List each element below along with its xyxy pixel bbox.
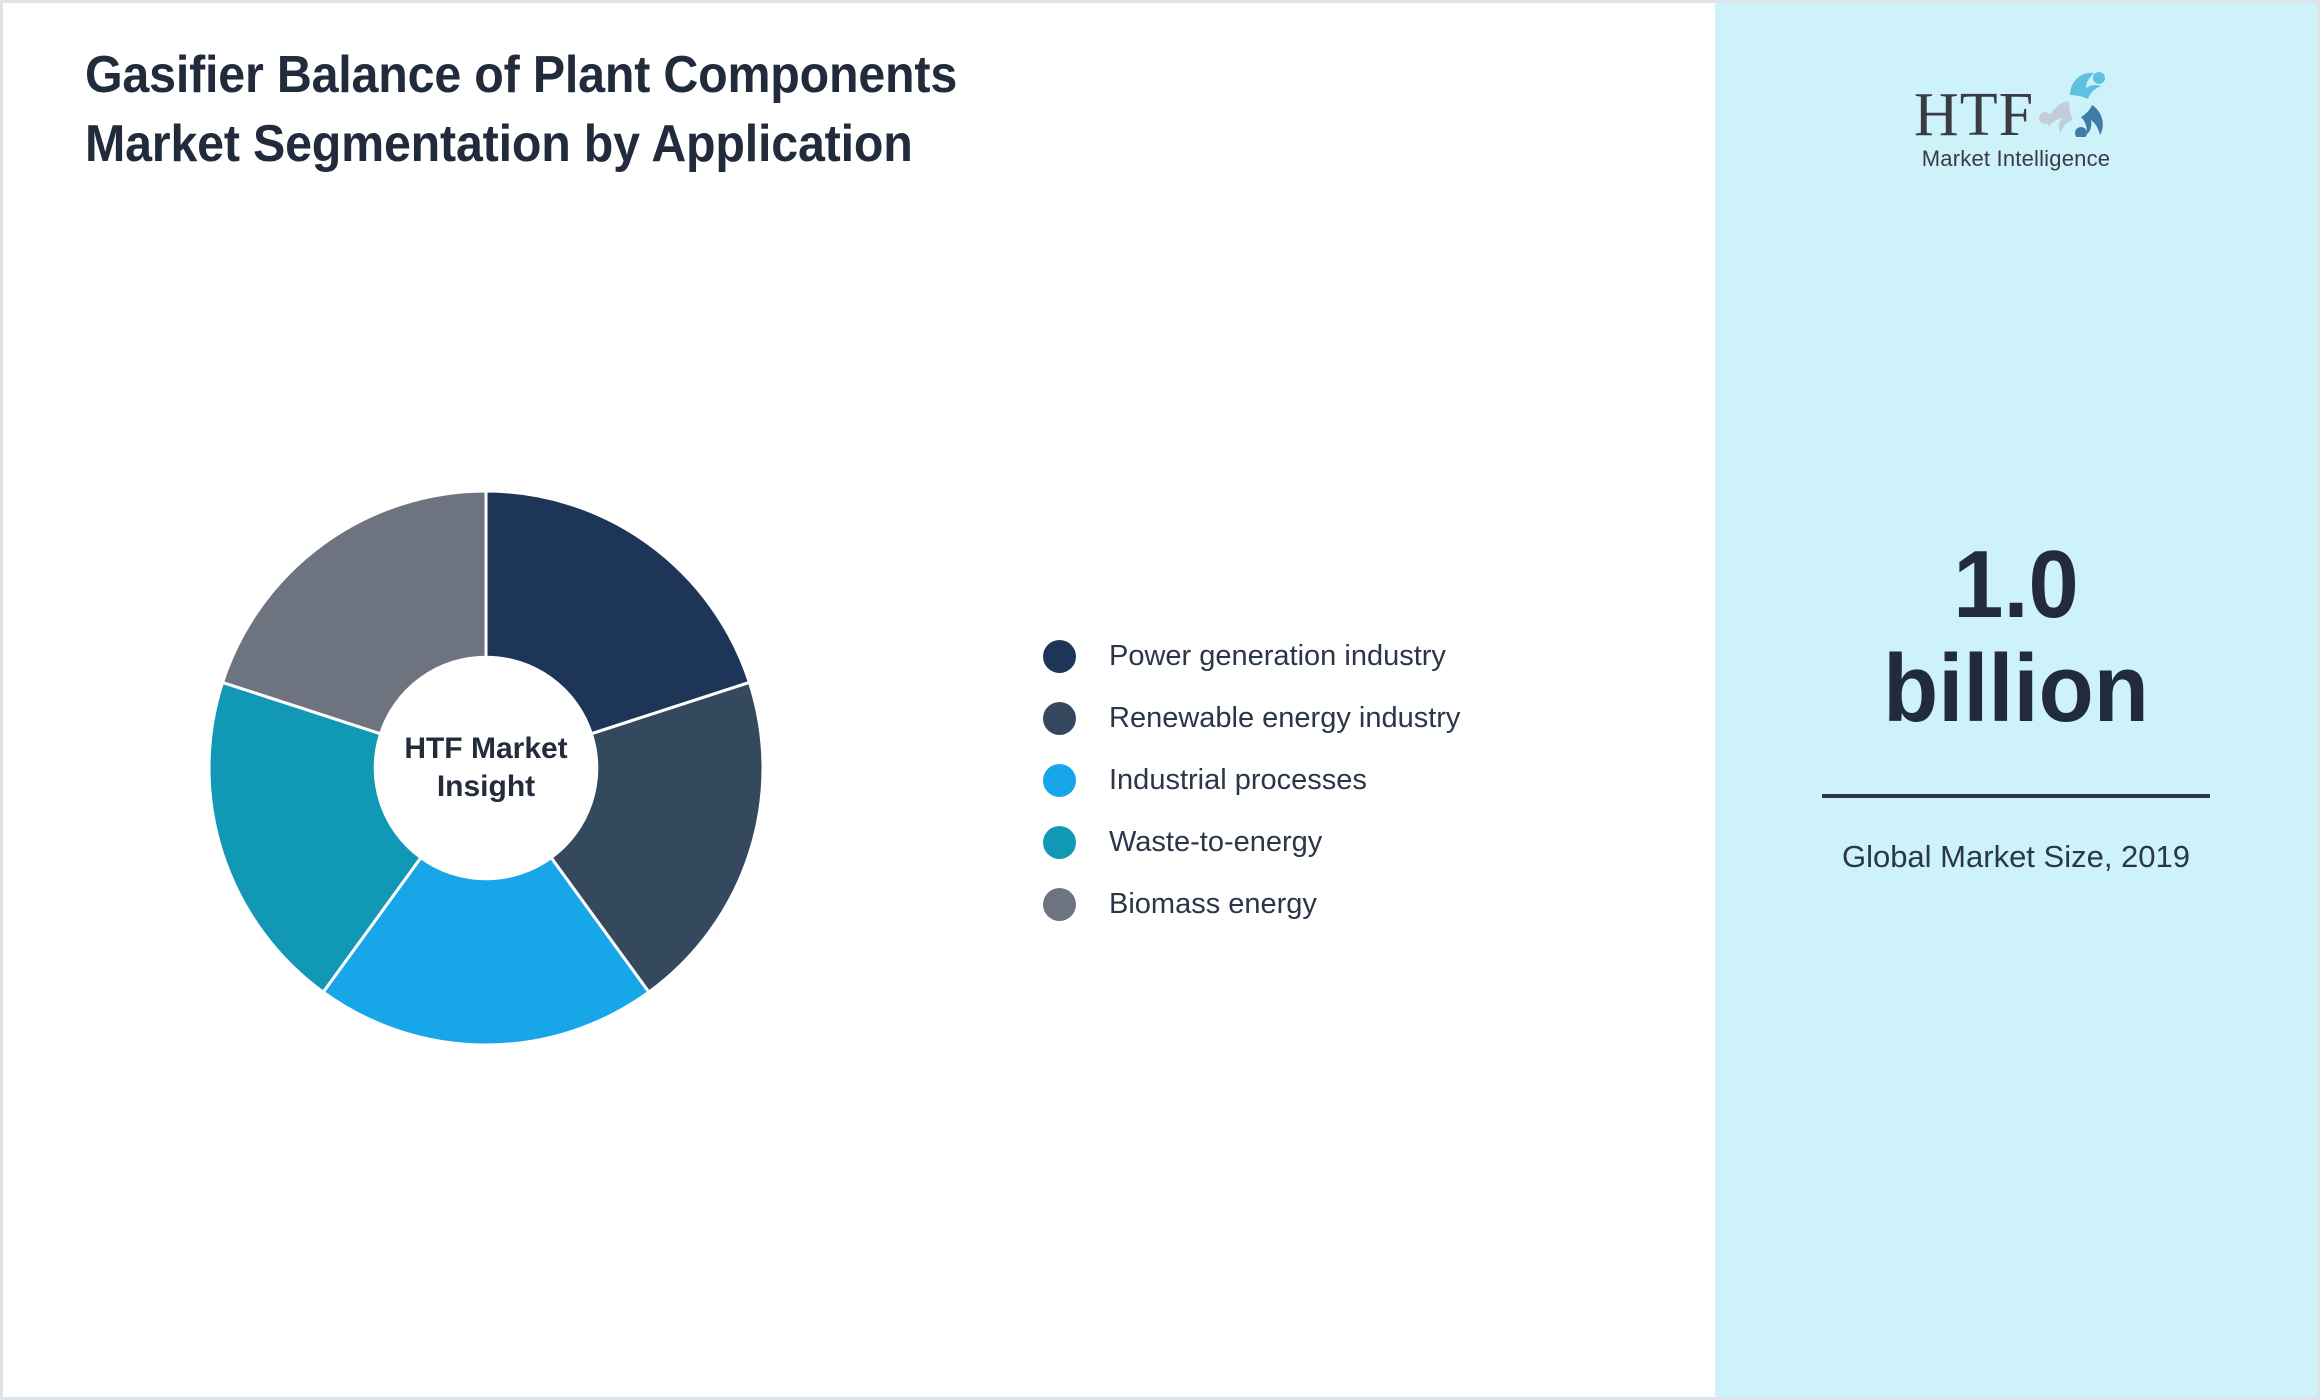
main-content: Gasifier Balance of Plant Components Mar…: [3, 3, 1718, 1397]
legend-swatch-icon: [1043, 640, 1076, 673]
legend-item-label: Power generation industry: [1109, 640, 1446, 673]
legend-item[interactable]: Power generation industry: [1043, 625, 1460, 687]
legend-item[interactable]: Biomass energy: [1043, 873, 1460, 935]
logo-tagline: Market Intelligence: [1922, 146, 2110, 172]
sidebar-panel: HTF: [1715, 3, 2317, 1397]
legend-item[interactable]: Renewable energy industry: [1043, 687, 1460, 749]
stat-value-line1: 1.0: [1733, 533, 2299, 637]
legend-swatch-icon: [1043, 888, 1076, 921]
stat-caption: Global Market Size, 2019: [1715, 836, 2317, 879]
legend-item-label: Biomass energy: [1109, 888, 1317, 921]
legend-swatch-icon: [1043, 702, 1076, 735]
logo-wordmark: HTF: [1914, 87, 2034, 144]
legend-swatch-icon: [1043, 764, 1076, 797]
page-title: Gasifier Balance of Plant Components Mar…: [85, 41, 1015, 179]
stat-block: 1.0 billion Global Market Size, 2019: [1715, 533, 2317, 879]
stat-value-line2: billion: [1733, 637, 2299, 741]
legend-item[interactable]: Waste-to-energy: [1043, 811, 1460, 873]
donut-chart-svg: [209, 491, 763, 1045]
stat-value: 1.0 billion: [1733, 533, 2299, 740]
infographic-page: Gasifier Balance of Plant Components Mar…: [0, 0, 2320, 1400]
legend-item-label: Industrial processes: [1109, 764, 1367, 797]
chart-legend: Power generation industryRenewable energ…: [1043, 625, 1460, 935]
brand-logo: HTF: [1715, 65, 2317, 172]
legend-item[interactable]: Industrial processes: [1043, 749, 1460, 811]
legend-item-label: Waste-to-energy: [1109, 826, 1322, 859]
stat-divider: [1822, 794, 2210, 798]
donut-chart: HTF Market Insight: [209, 491, 763, 1045]
legend-item-label: Renewable energy industry: [1109, 702, 1460, 735]
logo-swirl-icon: [2036, 65, 2118, 142]
legend-swatch-icon: [1043, 826, 1076, 859]
